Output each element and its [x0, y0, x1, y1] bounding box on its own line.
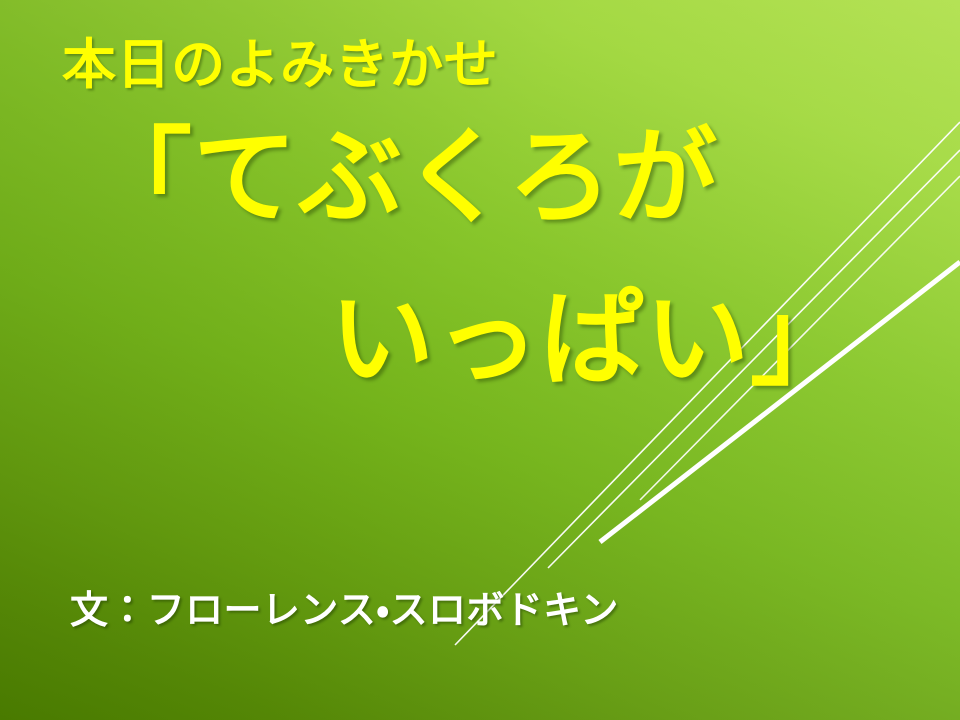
slide-title-line-2: いっぱい」 — [330, 282, 855, 396]
credits-block: 文：フローレンス・スロボドキン 絵：ルイス・スロボドキン 訳：三原 泉 出版：偕… — [70, 480, 619, 720]
credit-author: 文：フローレンス・スロボドキン — [70, 584, 619, 636]
presentation-slide: 本日のよみきかせ 「てぶくろが いっぱい」 文：フローレンス・スロボドキン 絵：… — [0, 0, 960, 720]
slide-kicker: 本日のよみきかせ — [62, 36, 498, 94]
slide-title-line-1: 「てぶくろが — [88, 120, 718, 234]
